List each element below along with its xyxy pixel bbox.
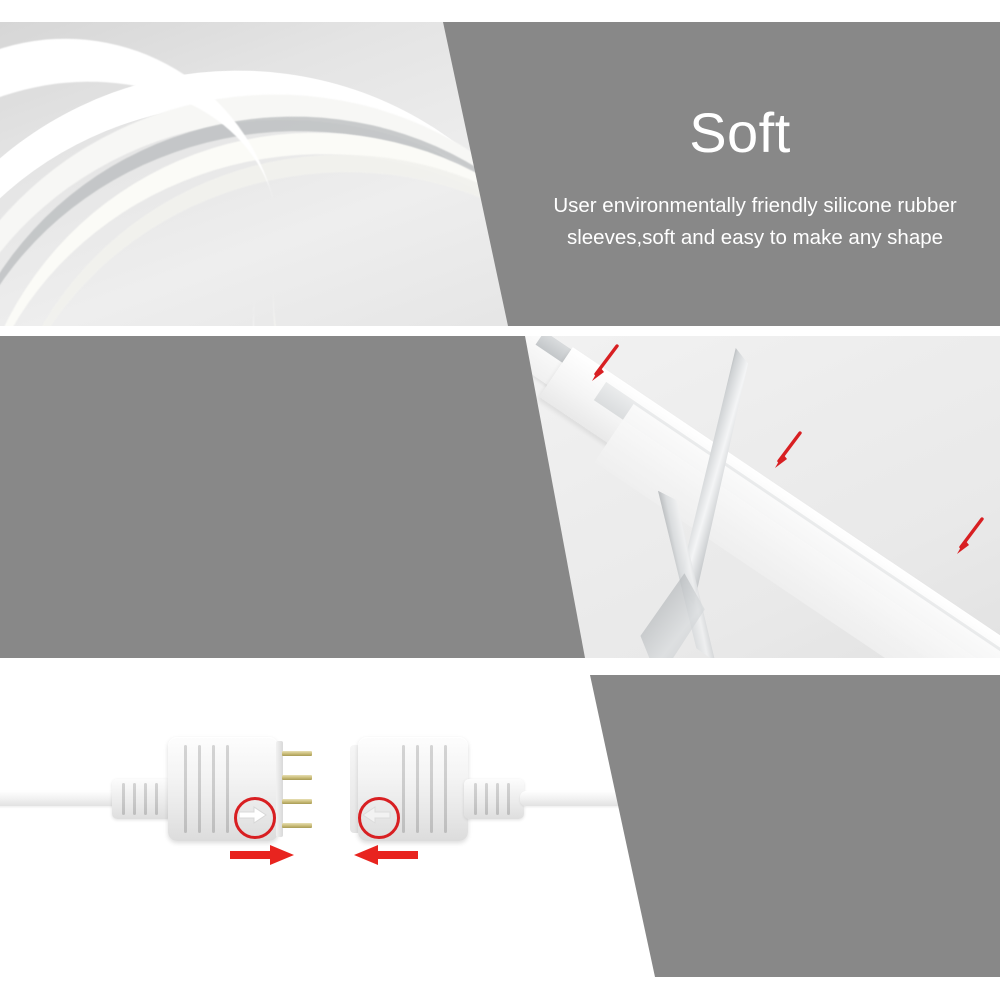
cut-mark-arrow-3 [948,514,992,562]
male-pin-3 [282,799,312,804]
male-embossed-arrow-right-icon [239,806,267,824]
male-pin-4 [282,823,312,828]
female-direction-arrow-icon [352,843,418,867]
male-direction-arrow-icon [230,843,296,867]
product-feature-sheet: Soft User environmentally friendly silic… [0,0,1000,1000]
feature-panel-cut: Cut Can be cropped,three beads are cut o… [0,336,1000,658]
feature-panel-connection: Connection Arrow to arrow [0,675,1000,977]
left-cable [0,791,120,806]
female-embossed-arrow-left-icon [363,806,391,824]
soft-subtitle-line-1: User environmentally friendly silicone r… [505,190,1000,222]
cut-mark-arrow-1 [583,341,627,389]
soft-subtitle: User environmentally friendly silicone r… [505,190,1000,254]
right-strain-relief [464,779,524,819]
male-pin-1 [282,751,312,756]
cut-mark-arrow-2 [766,428,810,476]
soft-subtitle-line-2: sleeves,soft and easy to make any shape [505,222,1000,254]
left-strain-relief [112,779,172,819]
male-pin-2 [282,775,312,780]
soft-title: Soft [560,100,920,165]
feature-panel-soft: Soft User environmentally friendly silic… [0,22,1000,326]
